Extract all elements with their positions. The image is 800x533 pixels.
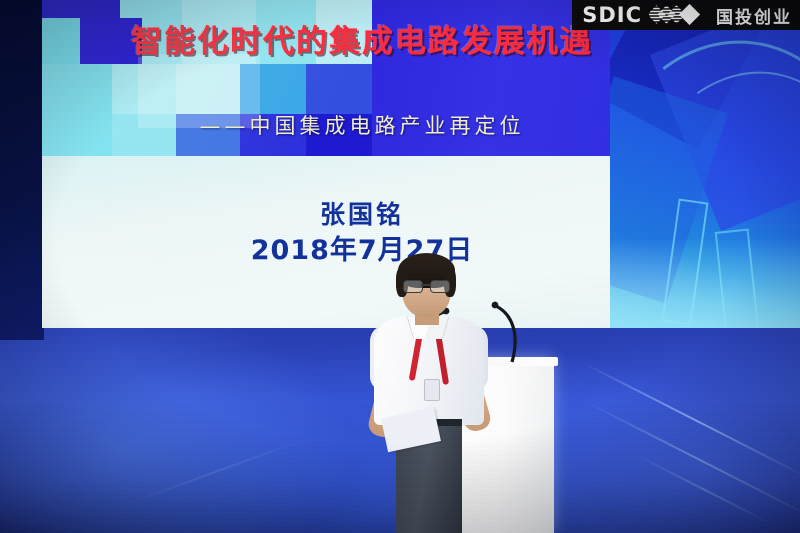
conference-stage-photo: 智能化时代的集成电路发展机遇 ——中国集成电路产业再定位 张国铭 2018年7月…: [0, 0, 800, 533]
vignette: [0, 0, 800, 533]
